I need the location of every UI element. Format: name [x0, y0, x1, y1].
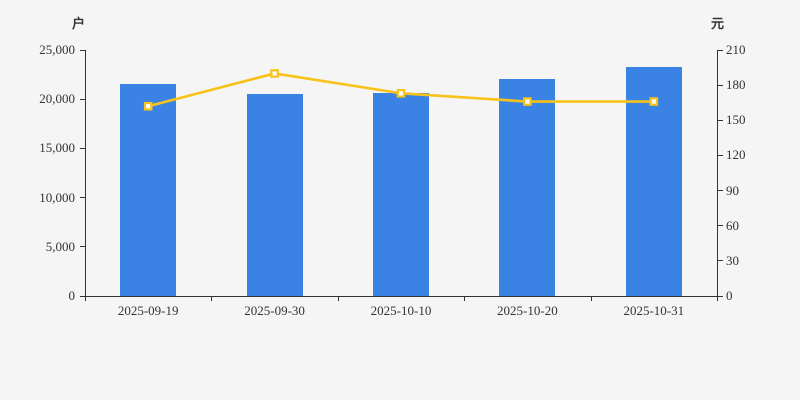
left-tick-label: 10,000	[39, 191, 75, 204]
right-tick-mark	[718, 155, 723, 156]
bar[interactable]	[373, 93, 429, 296]
right-tick-label: 210	[726, 43, 746, 56]
right-tick-mark	[718, 296, 723, 297]
bar[interactable]	[120, 84, 176, 296]
right-tick-mark	[718, 190, 723, 191]
left-tick-mark	[80, 197, 85, 198]
left-tick-label: 20,000	[39, 92, 75, 105]
x-tick-label: 2025-10-31	[623, 304, 684, 317]
x-tick-label: 2025-10-10	[371, 304, 432, 317]
x-tick-mark	[591, 296, 592, 301]
left-tick-label: 0	[69, 289, 76, 302]
line-marker[interactable]: 2025-09-30 190元	[271, 70, 277, 76]
right-tick-mark	[718, 260, 723, 261]
left-tick-mark	[80, 99, 85, 100]
right-tick-label: 90	[726, 184, 739, 197]
x-tick-mark	[717, 296, 718, 301]
x-tick-label: 2025-09-19	[118, 304, 179, 317]
right-tick-label: 120	[726, 148, 746, 161]
x-tick-mark	[464, 296, 465, 301]
bar[interactable]	[499, 79, 555, 296]
right-tick-label: 30	[726, 254, 739, 267]
left-tick-label: 25,000	[39, 43, 75, 56]
right-tick-mark	[718, 225, 723, 226]
x-axis-line	[85, 296, 718, 297]
right-tick-label: 0	[726, 289, 733, 302]
chart-container: 户 元 05,00010,00015,00020,00025,000 03060…	[0, 0, 800, 400]
bar[interactable]	[626, 67, 682, 296]
right-axis-unit-label: 元	[711, 18, 724, 31]
left-tick-mark	[80, 50, 85, 51]
bar[interactable]	[247, 94, 303, 296]
x-tick-mark	[211, 296, 212, 301]
left-tick-label: 15,000	[39, 141, 75, 154]
left-tick-mark	[80, 246, 85, 247]
right-tick-mark	[718, 120, 723, 121]
right-tick-label: 60	[726, 219, 739, 232]
x-tick-mark	[85, 296, 86, 301]
left-tick-mark	[80, 148, 85, 149]
right-tick-mark	[718, 50, 723, 51]
x-tick-label: 2025-09-30	[244, 304, 305, 317]
right-tick-label: 150	[726, 113, 746, 126]
left-axis-unit-label: 户	[72, 18, 85, 31]
left-axis-line	[85, 50, 86, 297]
left-tick-label: 5,000	[46, 240, 75, 253]
x-tick-label: 2025-10-20	[497, 304, 558, 317]
x-tick-mark	[338, 296, 339, 301]
right-tick-label: 180	[726, 78, 746, 91]
right-tick-mark	[718, 85, 723, 86]
